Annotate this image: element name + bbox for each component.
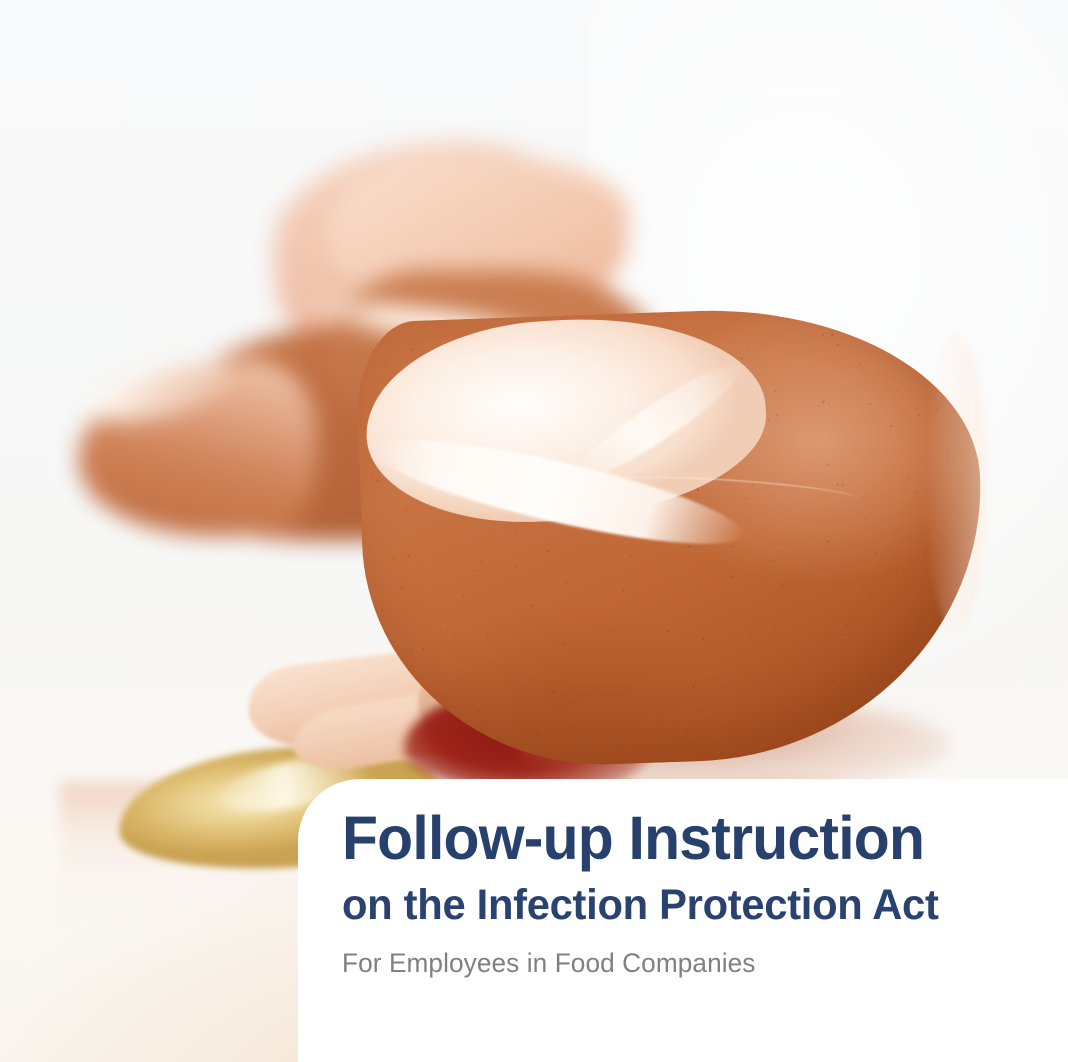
page-subtitle: on the Infection Protection Act [342,880,1046,931]
title-card-content: Follow-up Instruction on the Infection P… [342,807,1068,980]
eggshell-outer-edge-light [926,332,986,632]
page-audience-line: For Employees in Food Companies [342,947,1046,979]
page-title: Follow-up Instruction [342,807,1043,870]
cover-page: Follow-up Instruction on the Infection P… [0,0,1068,1062]
title-card: Follow-up Instruction on the Infection P… [298,779,1068,1062]
foreground-eggshell-icon [362,312,982,767]
